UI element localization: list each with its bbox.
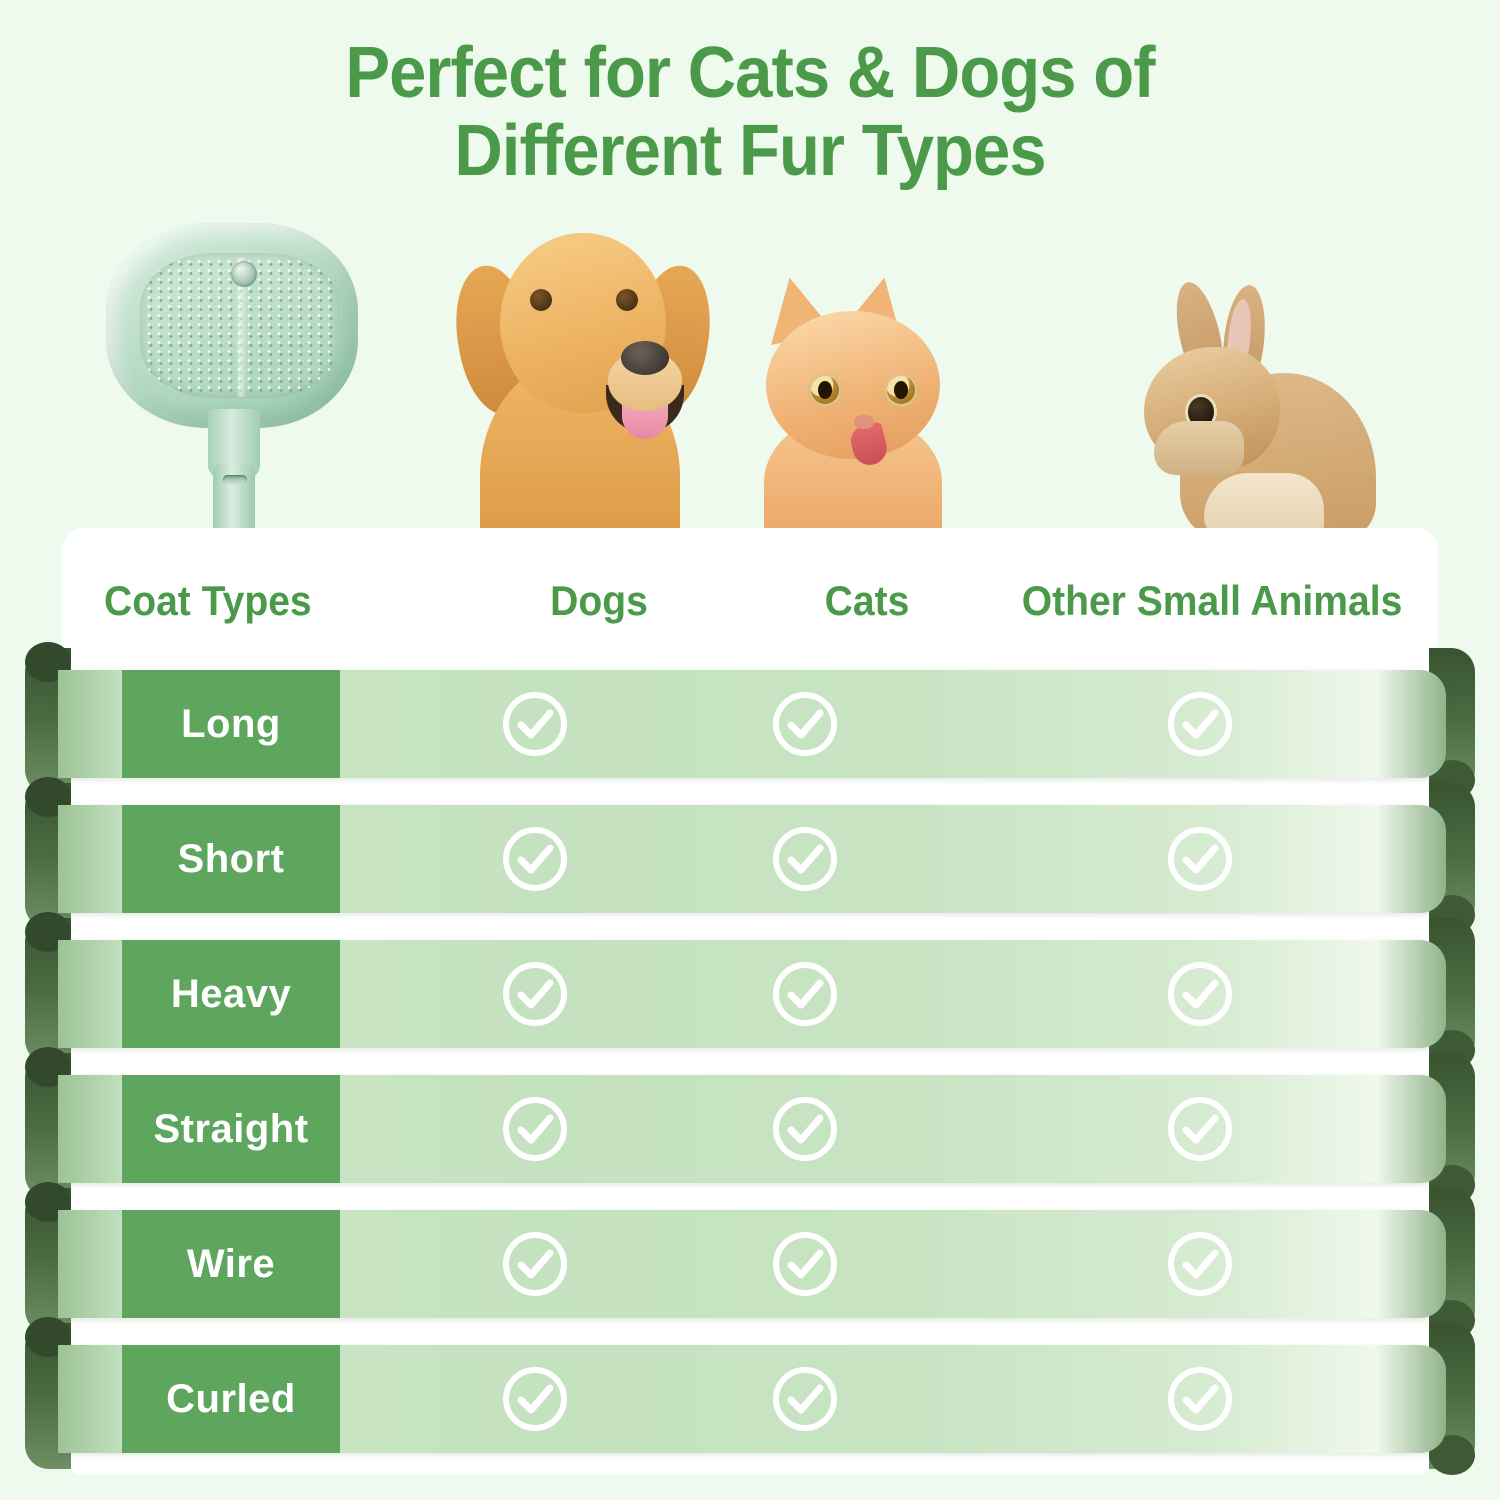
table-body: LongShortHeavyStraightWireCurled [0, 0, 1500, 1500]
coat-type-chip: Short [122, 805, 340, 913]
check-circle-icon [1165, 1094, 1235, 1164]
check-circle-icon [500, 1229, 570, 1299]
check-circle-icon [770, 959, 840, 1029]
ribbon-band-shadow [58, 805, 128, 913]
ribbon-band-shadow [58, 670, 128, 778]
coat-type-chip: Wire [122, 1210, 340, 1318]
table-row: Curled [0, 1323, 1500, 1469]
coat-type-label: Wire [187, 1242, 275, 1287]
coat-type-label: Straight [153, 1107, 308, 1152]
coat-type-chip: Long [122, 670, 340, 778]
check-circle-icon [1165, 689, 1235, 759]
check-circle-icon [1165, 1364, 1235, 1434]
table-row: Wire [0, 1188, 1500, 1334]
coat-type-chip: Straight [122, 1075, 340, 1183]
check-circle-icon [770, 824, 840, 894]
ribbon-band-shadow [58, 940, 128, 1048]
check-circle-icon [1165, 1229, 1235, 1299]
coat-type-label: Curled [166, 1377, 296, 1422]
coat-type-label: Short [178, 837, 285, 882]
check-circle-icon [500, 824, 570, 894]
check-circle-icon [500, 1364, 570, 1434]
table-row: Long [0, 648, 1500, 794]
check-circle-icon [1165, 959, 1235, 1029]
check-circle-icon [770, 1229, 840, 1299]
check-circle-icon [500, 959, 570, 1029]
check-circle-icon [770, 1094, 840, 1164]
coat-type-label: Long [181, 702, 281, 747]
check-circle-icon [500, 1094, 570, 1164]
check-circle-icon [770, 1364, 840, 1434]
ribbon-band-shadow [58, 1210, 128, 1318]
table-row: Straight [0, 1053, 1500, 1199]
check-circle-icon [770, 689, 840, 759]
table-row: Heavy [0, 918, 1500, 1064]
ribbon-band-shadow [58, 1345, 128, 1453]
table-row: Short [0, 783, 1500, 929]
coat-type-label: Heavy [171, 972, 291, 1017]
check-circle-icon [1165, 824, 1235, 894]
coat-type-chip: Curled [122, 1345, 340, 1453]
coat-type-chip: Heavy [122, 940, 340, 1048]
ribbon-band-shadow [58, 1075, 128, 1183]
check-circle-icon [500, 689, 570, 759]
